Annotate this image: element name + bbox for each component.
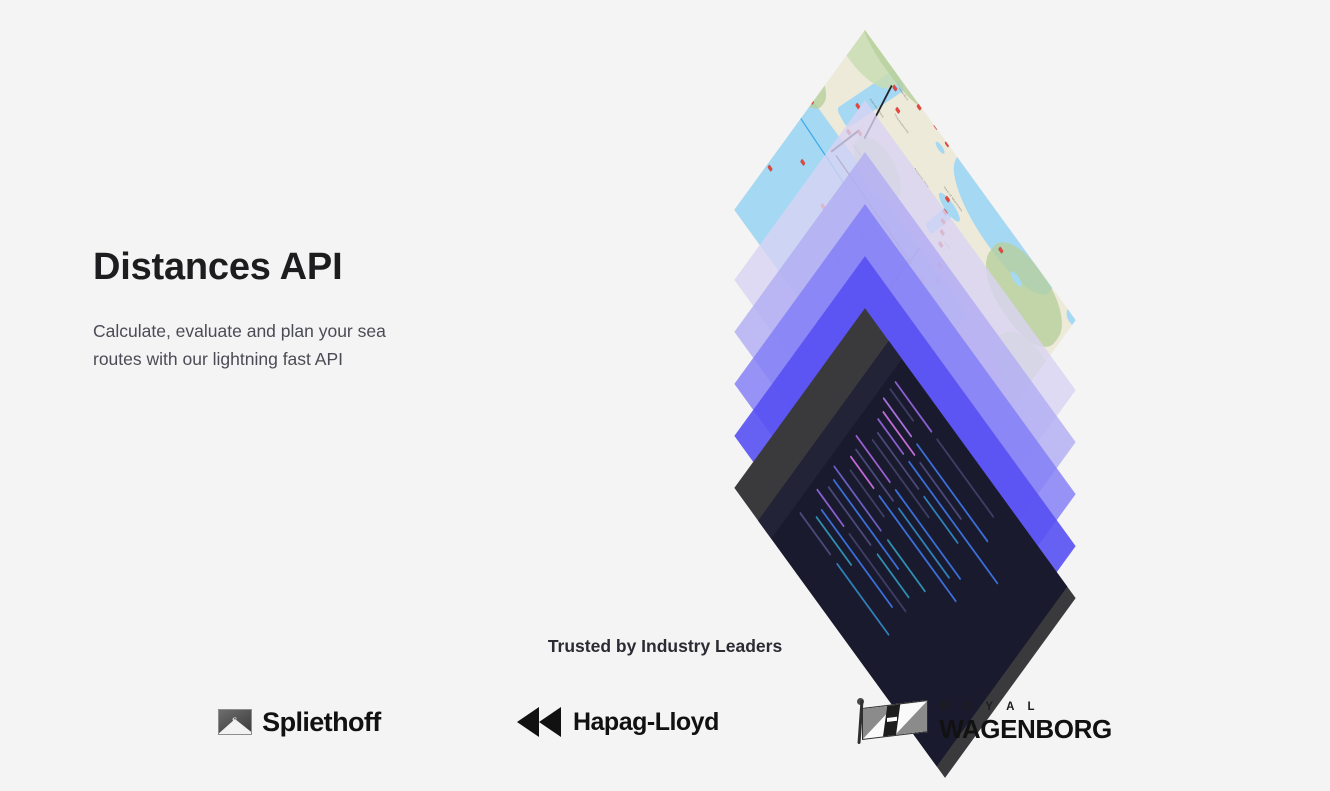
map-label: Black Sea	[986, 173, 999, 191]
chevron-left-icon	[539, 707, 561, 737]
map-marker[interactable]	[970, 136, 975, 143]
hapag-lloyd-chevron-icon	[517, 707, 563, 737]
logo-spliethoff[interactable]: S Spliethoff	[218, 707, 380, 738]
flag-triangle-lower	[895, 701, 927, 735]
wagenborg-name: WAGENBORG	[939, 716, 1112, 742]
wagenborg-prefix: R O Y A L	[941, 702, 1112, 714]
trusted-heading: Trusted by Industry Leaders	[0, 636, 1330, 657]
map-label: Piraeus	[795, 85, 805, 99]
wagenborg-flag-icon	[855, 700, 929, 744]
spliethoff-letter: S	[232, 716, 237, 726]
map-marker[interactable]	[788, 84, 793, 91]
map-lake-a	[1008, 203, 1029, 231]
hero-text-block: Distances API Calculate, evaluate and pl…	[93, 246, 513, 373]
spliethoff-wordmark: Spliethoff	[262, 707, 380, 738]
logo-royal-wagenborg[interactable]: R O Y A L WAGENBORG	[855, 700, 1112, 744]
landing-page: Distances API Calculate, evaluate and pl…	[0, 0, 1330, 791]
chevron-left-icon	[517, 707, 539, 737]
spliethoff-mark-icon: S	[218, 709, 252, 735]
hero-subtitle: Calculate, evaluate and plan your sea ro…	[93, 317, 433, 373]
flag-body-icon	[862, 700, 928, 740]
page-title: Distances API	[93, 246, 513, 290]
wagenborg-wordmark: R O Y A L WAGENBORG	[939, 702, 1112, 743]
partner-logo-row: S Spliethoff Hapag-Lloyd	[0, 682, 1330, 762]
isometric-layer-stack: Black Sea Aegean Sea Adriatic Sea Ionian…	[655, 80, 1175, 570]
logo-hapag-lloyd[interactable]: Hapag-Lloyd	[517, 707, 719, 737]
map-marker[interactable]	[987, 148, 992, 155]
hapag-lloyd-wordmark: Hapag-Lloyd	[573, 708, 719, 737]
